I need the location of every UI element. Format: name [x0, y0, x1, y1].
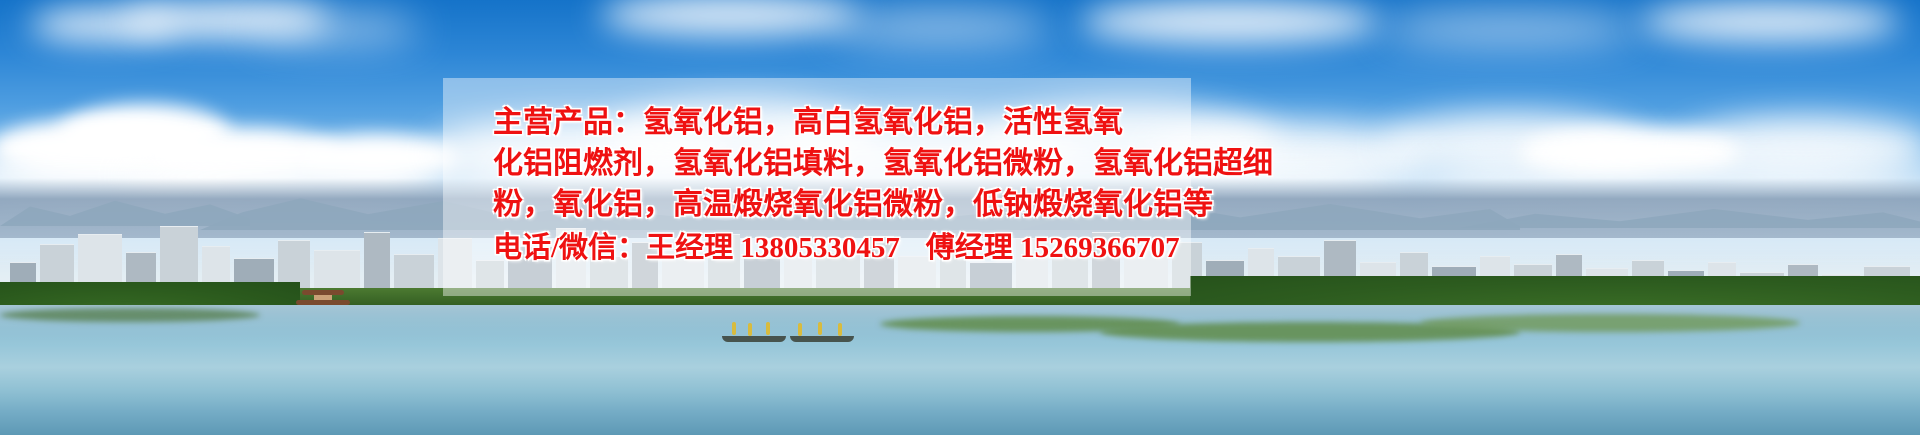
contact-person-1-name: 王经理: [646, 232, 733, 264]
promo-banner: 主营产品：氢氧化铝，高白氢氧化铝，活性氢氧 化铝阻燃剂，氢氧化铝填料，氢氧化铝微…: [0, 0, 1920, 435]
contact-person-1-phone[interactable]: 13805330457: [740, 232, 900, 264]
contact-person-2-phone[interactable]: 15269366707: [1020, 232, 1180, 264]
product-line-3: 粉，氧化铝，高温煅烧氧化铝微粉，低钠煅烧氧化铝等: [493, 184, 1203, 225]
product-line-1: 主营产品：氢氧化铝，高白氢氧化铝，活性氢氧: [493, 102, 1203, 143]
contact-person-2-name: 傅经理: [926, 232, 1013, 264]
sandbar-3: [1420, 314, 1800, 332]
contact-line: 电话/微信：王经理 13805330457傅经理 15269366707: [493, 228, 1203, 269]
product-line-2: 化铝阻燃剂，氢氧化铝填料，氢氧化铝微粉，氢氧化铝超细: [493, 143, 1203, 184]
contact-label: 电话/微信：: [493, 232, 646, 264]
promo-text-block: 主营产品：氢氧化铝，高白氢氧化铝，活性氢氧 化铝阻燃剂，氢氧化铝填料，氢氧化铝微…: [443, 78, 1203, 308]
sandbar-4: [0, 308, 260, 322]
